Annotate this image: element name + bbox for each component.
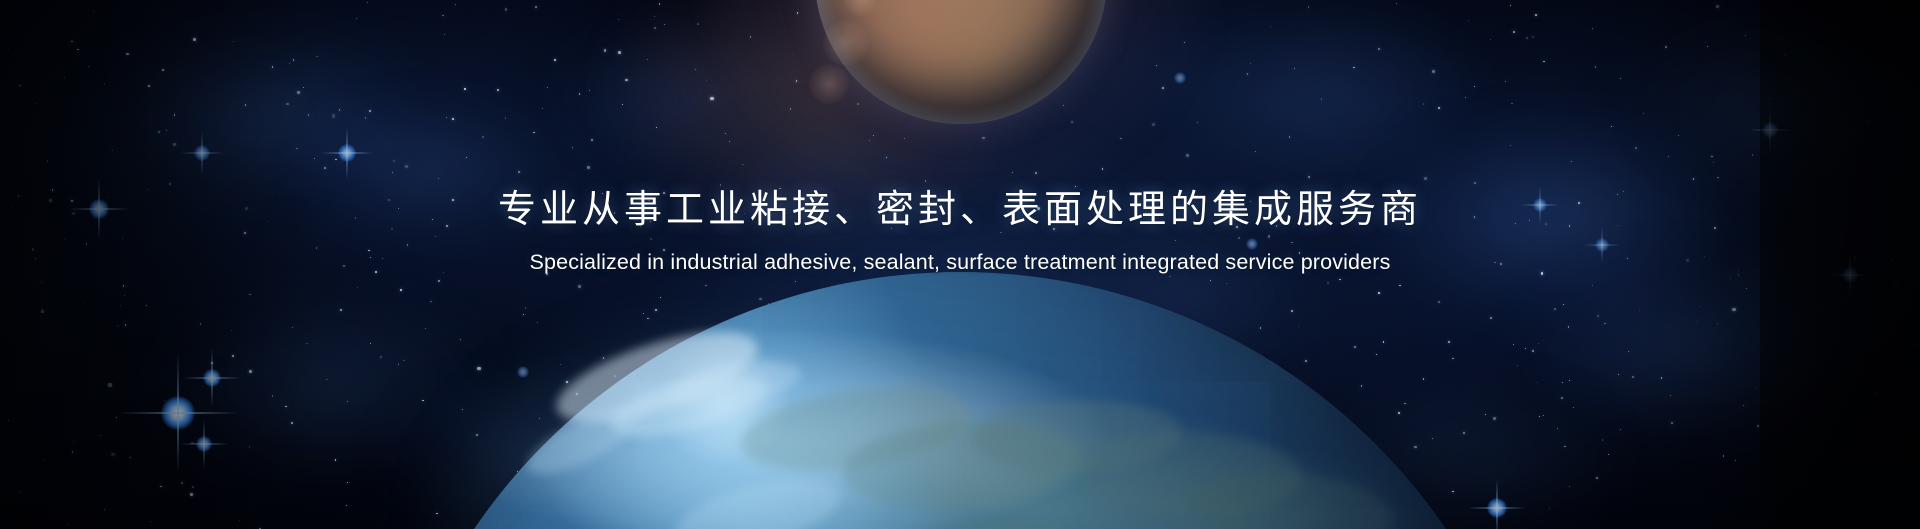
star (125, 324, 127, 326)
star (1620, 78, 1621, 79)
star (554, 59, 556, 61)
star (162, 69, 164, 71)
star (324, 167, 326, 169)
star (126, 53, 128, 55)
star (1826, 376, 1827, 377)
star (1771, 494, 1773, 496)
star (1276, 225, 1278, 227)
star (1665, 46, 1667, 48)
star (303, 87, 304, 88)
star (452, 199, 454, 201)
star (47, 160, 48, 161)
star (343, 265, 344, 266)
star (367, 2, 369, 4)
lens-bokeh-circle (809, 64, 849, 104)
star (1769, 98, 1771, 100)
star (124, 295, 125, 296)
star (1286, 203, 1287, 204)
star (446, 117, 447, 118)
star (438, 178, 439, 179)
star (1717, 323, 1718, 324)
star (286, 103, 289, 106)
star (292, 327, 293, 328)
star (19, 492, 21, 494)
star (1756, 387, 1757, 388)
star (1510, 5, 1511, 6)
star-diffraction-spike (1539, 186, 1540, 224)
star-diffraction-spike (1849, 255, 1850, 295)
star (382, 258, 383, 259)
star (1308, 6, 1309, 7)
star (35, 258, 36, 259)
star (1597, 315, 1599, 317)
star (1268, 235, 1271, 238)
star (398, 208, 399, 209)
star (589, 90, 590, 91)
star (19, 85, 21, 87)
star (1592, 285, 1593, 286)
star (1777, 521, 1778, 522)
star (1854, 256, 1856, 258)
star (49, 199, 52, 202)
star (1617, 225, 1618, 226)
star (1857, 167, 1858, 168)
star (369, 110, 371, 112)
star (108, 383, 111, 386)
star (1693, 178, 1694, 179)
star (1197, 122, 1198, 123)
star (289, 63, 290, 64)
star (1780, 241, 1781, 242)
star (482, 136, 484, 138)
star (1294, 68, 1295, 69)
star (249, 370, 252, 373)
star (123, 285, 124, 286)
star (405, 165, 408, 168)
star (1896, 34, 1898, 36)
star (1438, 107, 1440, 109)
star (1784, 117, 1785, 118)
star (88, 66, 89, 67)
star (587, 166, 590, 169)
star (297, 91, 300, 94)
star (365, 117, 367, 119)
star (1571, 161, 1572, 162)
earth-planet (372, 272, 1548, 529)
star (1627, 258, 1628, 259)
star (306, 343, 307, 344)
star (1557, 428, 1558, 429)
star (1549, 508, 1550, 509)
star (1535, 14, 1537, 16)
star (1543, 61, 1545, 63)
star (1738, 270, 1739, 271)
star (1784, 55, 1785, 56)
star (296, 148, 298, 150)
star (1745, 35, 1746, 36)
star (1899, 301, 1901, 303)
star (1545, 223, 1547, 225)
star (86, 243, 88, 245)
star (1532, 36, 1534, 38)
star (8, 420, 9, 421)
star (1697, 321, 1698, 322)
star (314, 158, 315, 159)
star (391, 228, 394, 231)
star (308, 114, 310, 116)
star (370, 257, 371, 258)
star (407, 244, 408, 245)
star-diffraction-spike (1769, 109, 1770, 151)
star (1568, 326, 1569, 327)
star (293, 59, 294, 60)
star (1554, 308, 1556, 310)
star (1917, 344, 1920, 347)
star (1465, 97, 1466, 98)
star (1592, 28, 1593, 29)
star (174, 114, 176, 116)
star-diffraction-spike (211, 349, 212, 407)
star (244, 232, 246, 234)
star (1876, 393, 1878, 395)
star (1797, 99, 1798, 100)
star (1474, 216, 1475, 217)
star (111, 453, 114, 456)
star (1602, 439, 1603, 440)
star (1790, 21, 1791, 22)
star (1880, 167, 1881, 168)
star (1569, 225, 1571, 227)
star (146, 305, 147, 306)
star-diffraction-spike (346, 127, 347, 179)
lens-bokeh-circle (823, 20, 869, 66)
star (1915, 186, 1916, 187)
star (173, 143, 176, 146)
star (1247, 73, 1249, 75)
star (35, 103, 36, 104)
star (108, 197, 109, 198)
star (245, 207, 248, 210)
star-diffraction-spike (1601, 227, 1602, 263)
star (147, 189, 148, 190)
star (71, 41, 72, 42)
star (1396, 3, 1397, 4)
star (1291, 242, 1292, 243)
star (1562, 382, 1563, 383)
star (8, 48, 10, 50)
star (542, 108, 543, 109)
star (1494, 262, 1496, 264)
star (1490, 39, 1491, 40)
star (1604, 323, 1605, 324)
star (1596, 477, 1598, 479)
star (432, 219, 433, 220)
star (272, 66, 274, 68)
star (518, 171, 520, 173)
star (150, 521, 151, 522)
star (1707, 46, 1708, 47)
star-diffraction-spike (203, 419, 204, 469)
star (466, 157, 467, 158)
star (43, 460, 44, 461)
star (1717, 177, 1719, 179)
star (1879, 156, 1881, 158)
star (1262, 204, 1264, 206)
star (1515, 223, 1516, 224)
star (1563, 304, 1564, 305)
star (130, 457, 131, 458)
star (285, 406, 286, 407)
star (1561, 397, 1563, 399)
star (357, 287, 358, 288)
star (446, 225, 447, 226)
star (41, 282, 42, 283)
star (1632, 376, 1634, 378)
star (116, 417, 117, 418)
star (572, 147, 573, 148)
star (1668, 156, 1670, 158)
star (1800, 303, 1801, 304)
star (245, 104, 246, 105)
upper-planet (815, 0, 1107, 124)
star (1321, 98, 1323, 100)
star (1569, 380, 1570, 381)
star (100, 435, 101, 436)
star (1474, 182, 1475, 183)
star (393, 160, 395, 162)
star (1916, 88, 1917, 89)
star (1238, 237, 1239, 238)
star (1378, 48, 1380, 50)
star (1699, 306, 1700, 307)
star (232, 355, 233, 356)
star (1678, 135, 1679, 136)
star (32, 248, 35, 251)
star (452, 118, 454, 120)
star (1661, 377, 1663, 379)
star (505, 117, 506, 118)
star (231, 330, 232, 331)
star (1705, 42, 1706, 43)
star (1746, 288, 1748, 290)
star (1513, 31, 1515, 33)
star (388, 199, 390, 201)
star (41, 310, 43, 312)
star (340, 309, 343, 312)
star (1505, 81, 1506, 82)
star (579, 93, 580, 94)
star (1752, 154, 1754, 156)
star (1526, 37, 1528, 39)
star (505, 8, 508, 11)
star (1773, 35, 1774, 36)
star (1907, 477, 1908, 478)
star (72, 212, 75, 215)
star (455, 4, 456, 5)
star (1289, 136, 1290, 137)
star (326, 379, 328, 381)
star (1887, 238, 1888, 239)
star (1908, 434, 1910, 436)
star (1578, 202, 1580, 204)
star (73, 440, 74, 441)
star (1735, 460, 1736, 461)
star (1617, 194, 1618, 195)
star (1796, 313, 1797, 314)
star (591, 139, 593, 141)
star (190, 493, 193, 496)
star (1608, 454, 1609, 455)
star (497, 89, 499, 91)
star (663, 249, 665, 251)
star (1730, 278, 1731, 279)
star (1798, 222, 1799, 223)
star (1623, 191, 1624, 192)
star (1821, 309, 1823, 311)
star (72, 451, 74, 453)
star (1529, 220, 1530, 221)
star (1186, 154, 1189, 157)
bright-star (1246, 238, 1258, 250)
star (1738, 274, 1740, 276)
star (335, 159, 336, 160)
star (71, 200, 73, 202)
star (1686, 259, 1689, 262)
star (1620, 429, 1621, 430)
star (1236, 226, 1238, 228)
star (192, 486, 193, 487)
star (200, 323, 202, 325)
star (1912, 400, 1913, 401)
star (112, 150, 113, 151)
star (1711, 156, 1712, 157)
star (1203, 199, 1205, 201)
star (1424, 177, 1427, 180)
star (1891, 259, 1892, 260)
star (1569, 486, 1570, 487)
star (1270, 26, 1271, 27)
earth-dayside-bloom (412, 294, 932, 529)
star (1618, 374, 1620, 376)
star (239, 520, 240, 521)
star (444, 34, 445, 35)
star (1743, 405, 1744, 406)
star (1804, 487, 1805, 488)
star (272, 395, 273, 396)
star (335, 459, 337, 461)
star (346, 505, 347, 506)
star-diffraction-spike (98, 178, 99, 240)
star (12, 206, 13, 207)
star (1793, 403, 1794, 404)
star (1894, 282, 1898, 286)
star (1639, 310, 1640, 311)
star (347, 482, 348, 483)
star (547, 87, 548, 88)
star (368, 250, 370, 252)
star (1474, 86, 1475, 87)
star (392, 172, 393, 173)
star (464, 88, 465, 89)
star (442, 15, 443, 16)
star (1500, 263, 1502, 265)
star (158, 131, 160, 133)
star (169, 183, 171, 185)
star (1299, 252, 1301, 254)
star (166, 130, 167, 131)
star (1723, 455, 1724, 456)
star (533, 132, 534, 133)
star (1916, 112, 1917, 113)
star (316, 56, 318, 58)
star (316, 247, 318, 249)
star (1643, 113, 1644, 114)
star (1308, 176, 1310, 178)
star (18, 195, 19, 196)
star (1432, 70, 1435, 73)
star (1881, 435, 1882, 436)
star (104, 509, 105, 510)
star (1897, 77, 1899, 79)
star (64, 77, 65, 78)
star (1423, 103, 1425, 105)
star (93, 10, 94, 11)
star (1628, 351, 1629, 352)
star (193, 38, 196, 41)
star (160, 486, 162, 488)
star (535, 6, 536, 7)
star (1255, 151, 1256, 152)
star (355, 217, 356, 218)
star (148, 85, 150, 87)
star (1714, 227, 1716, 229)
star (249, 294, 251, 296)
star (1635, 147, 1637, 149)
star (1713, 162, 1714, 163)
star (347, 401, 348, 402)
star (435, 236, 436, 237)
star (104, 84, 105, 85)
star-diffraction-spike (201, 131, 202, 175)
star (1353, 67, 1354, 68)
star (117, 325, 118, 326)
star (233, 41, 234, 42)
star (1250, 63, 1251, 64)
star (64, 239, 65, 240)
hero-banner: 专业从事工业粘接、密封、表面处理的集成服务商 Specialized in in… (0, 0, 1920, 529)
star (291, 422, 293, 424)
star (332, 114, 335, 117)
star (339, 109, 341, 111)
star (268, 221, 269, 222)
star (1716, 5, 1719, 8)
star (181, 482, 183, 484)
star (1573, 407, 1574, 408)
star (1757, 425, 1759, 427)
star (52, 189, 54, 191)
star (1611, 126, 1612, 127)
star (1564, 446, 1566, 448)
star (249, 446, 250, 447)
star (1815, 86, 1818, 89)
star (83, 302, 84, 303)
star (1704, 256, 1705, 257)
star (356, 18, 357, 19)
star (67, 524, 68, 525)
star (120, 305, 121, 306)
star (1595, 66, 1597, 68)
star (1774, 75, 1775, 76)
